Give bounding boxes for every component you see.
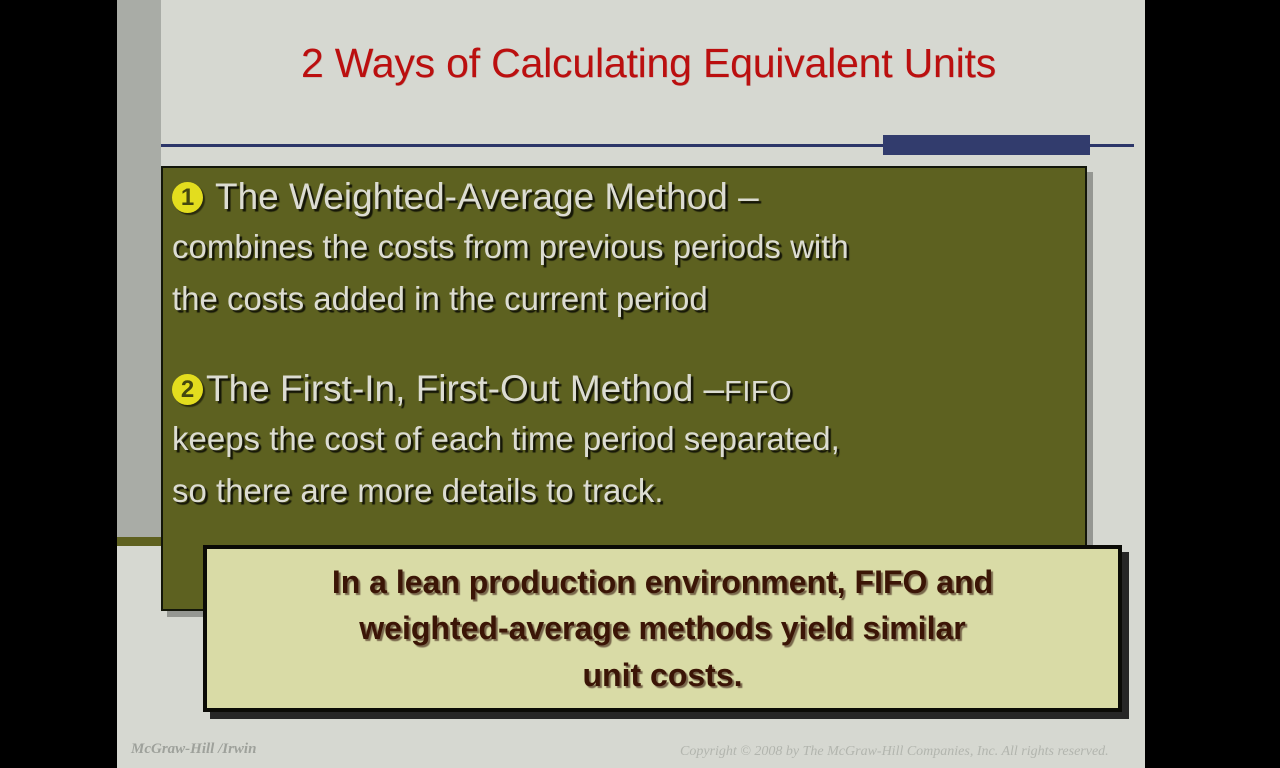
bullet-2-heading: 2The First-In, First-Out Method –FIFO xyxy=(172,366,1072,411)
bullet-number-badge-1: 1 xyxy=(172,182,203,213)
pillarbox-left xyxy=(0,0,117,768)
bullet-2-body-line-2: so there are more details to track. xyxy=(172,465,1072,517)
bullet-item-2: 2The First-In, First-Out Method –FIFO ke… xyxy=(172,366,1072,517)
callout-line-3: unit costs. xyxy=(207,652,1118,698)
slide-canvas: 2 Ways of Calculating Equivalent Units 1… xyxy=(117,0,1145,768)
callout-line-2: weighted-average methods yield similar xyxy=(207,605,1118,651)
bullet-1-body: combines the costs from previous periods… xyxy=(172,221,1072,325)
bullet-2-body: keeps the cost of each time period separ… xyxy=(172,413,1072,517)
bullet-1-body-line-2: the costs added in the current period xyxy=(172,273,1072,325)
footer-copyright: Copyright © 2008 by The McGraw-Hill Comp… xyxy=(680,744,1109,760)
bullet-item-1: 1The Weighted-Average Method – combines … xyxy=(172,174,1072,325)
left-accent-band xyxy=(117,0,161,546)
left-accent-band-foot xyxy=(117,537,161,546)
bullet-2-heading-text: The First-In, First-Out Method – xyxy=(206,368,724,409)
bullet-2-heading-acronym: FIFO xyxy=(724,376,792,408)
pillarbox-right xyxy=(1145,0,1280,768)
bullet-1-body-line-1: combines the costs from previous periods… xyxy=(172,221,1072,273)
footer-brand: McGraw-Hill /Irwin xyxy=(131,741,256,758)
bullet-number-badge-2: 2 xyxy=(172,374,203,405)
bullet-1-heading: 1The Weighted-Average Method – xyxy=(172,174,1072,219)
presentation-slide: 2 Ways of Calculating Equivalent Units 1… xyxy=(0,0,1280,768)
bullet-1-heading-text: The Weighted-Average Method – xyxy=(215,176,759,217)
callout-line-1: In a lean production environment, FIFO a… xyxy=(207,559,1118,605)
callout-text: In a lean production environment, FIFO a… xyxy=(207,559,1118,698)
page-title: 2 Ways of Calculating Equivalent Units xyxy=(161,42,1136,85)
bullet-2-body-line-1: keeps the cost of each time period separ… xyxy=(172,413,1072,465)
title-divider-accent-block xyxy=(883,135,1090,155)
callout-box: In a lean production environment, FIFO a… xyxy=(203,545,1122,712)
